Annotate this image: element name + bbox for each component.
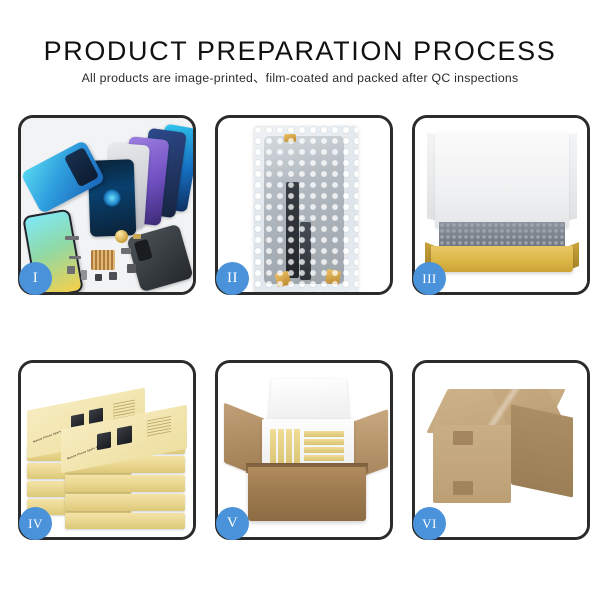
- stacked-box-item: [65, 475, 185, 492]
- badge-step-2: II: [216, 262, 249, 295]
- box-stack: Mobile Phone Spare Parts Mobile Phone Sp…: [27, 377, 191, 527]
- box-white-lid: [435, 132, 569, 228]
- camera-ring-icon: [115, 230, 128, 243]
- flex-cable-icon: [286, 182, 299, 278]
- stacked-box-item: [65, 513, 185, 529]
- panel-step-4[interactable]: Mobile Phone Spare Parts Mobile Phone Sp…: [18, 360, 196, 540]
- box-label-barcode: [147, 416, 171, 437]
- badge-step-6: VI: [413, 507, 446, 540]
- badge-step-4: IV: [19, 507, 52, 540]
- grey-foam-insert: [439, 222, 565, 248]
- gold-connector-left-icon: [275, 271, 292, 288]
- gold-connector-top-icon: [284, 134, 296, 142]
- stacked-box-item: [65, 494, 185, 511]
- badge-step-1: I: [19, 262, 52, 295]
- panel-step-6[interactable]: VI: [412, 360, 590, 540]
- box-front-yellow: [431, 246, 573, 272]
- carton-side-face: [511, 404, 573, 497]
- flex-cable-secondary-icon: [300, 222, 311, 280]
- panel-step-2[interactable]: II: [215, 115, 393, 295]
- bubble-wrap-sleeve: [254, 126, 358, 292]
- foam-box-lid: [268, 379, 350, 424]
- gold-connector-right-icon: [325, 269, 341, 285]
- product-preparation-process-infographic: PRODUCT PREPARATION PROCESS All products…: [0, 0, 600, 600]
- connector-grid-icon: [91, 250, 115, 270]
- panel-step-5[interactable]: V: [215, 360, 393, 540]
- carton-tape-lower: [453, 481, 473, 495]
- badge-step-3: III: [413, 262, 446, 295]
- panel-step-1[interactable]: I: [18, 115, 196, 295]
- panel-step-3[interactable]: III: [412, 115, 590, 295]
- page-subtitle: All products are image-printed、film-coat…: [0, 70, 600, 86]
- box-label-chip: [117, 425, 132, 445]
- small-components-group: [65, 226, 137, 284]
- carton-body: [248, 467, 366, 521]
- badge-step-5: V: [216, 507, 249, 540]
- page-title: PRODUCT PREPARATION PROCESS: [0, 36, 600, 66]
- carton-tape-upper: [453, 431, 473, 445]
- box-label-chip: [97, 432, 111, 451]
